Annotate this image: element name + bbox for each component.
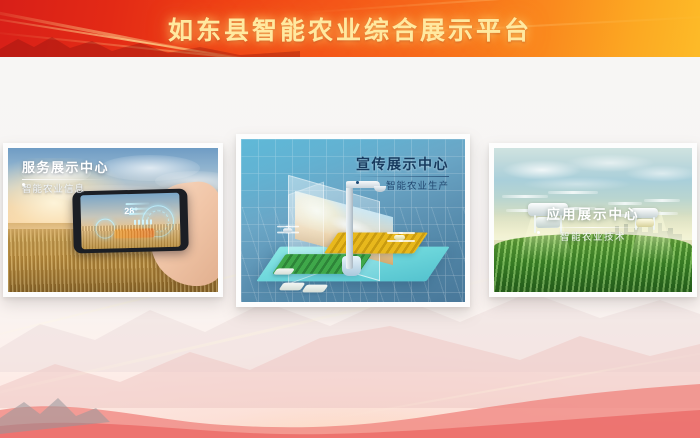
background-mountain-mid	[0, 298, 700, 408]
smartphone: 28°	[72, 188, 189, 253]
card-application-title: 应用展示中心	[539, 208, 647, 222]
hud-bar	[132, 207, 150, 209]
card-service-subtitle: 智能农业信息	[22, 185, 109, 195]
hud-bar	[126, 202, 150, 205]
card-application-image: 应用展示中心 智能农业技术	[494, 148, 692, 292]
background-mountain-near	[0, 358, 700, 438]
crop-rows-yellow	[323, 232, 427, 253]
phone-screen: 28°	[80, 192, 180, 249]
page-title: 如东县智能农业综合展示平台	[0, 0, 700, 57]
card-publicity-image: 宣传展示中心 智能农业生产	[241, 139, 465, 302]
page-background: 如东县智能农业综合展示平台	[0, 0, 700, 438]
hud-data-strip	[114, 228, 154, 238]
caption-divider	[22, 179, 106, 180]
caption-dot-icon	[356, 181, 359, 184]
card-publicity-subtitle: 智能农业生产	[353, 182, 449, 192]
caption-divider	[353, 176, 449, 177]
hud-ring-left-icon	[95, 218, 116, 239]
card-application-subtitle: 智能农业技术	[539, 233, 647, 243]
hud-ticks	[134, 219, 152, 224]
card-application-caption: 应用展示中心 智能农业技术	[539, 208, 647, 242]
hud-bar	[129, 212, 150, 215]
card-service-caption: 服务展示中心 智能农业信息	[22, 161, 109, 195]
caption-dot-icon	[537, 231, 540, 234]
green-crop-field	[494, 234, 692, 292]
card-service-title: 服务展示中心	[22, 161, 109, 174]
card-service-display-center[interactable]: 28° 服务展示中心 智能农业信息	[3, 143, 223, 297]
caption-dot-icon	[22, 183, 25, 186]
header-banner: 如东县智能农业综合展示平台	[0, 0, 700, 57]
card-publicity-caption: 宣传展示中心 智能农业生产	[353, 157, 449, 192]
card-publicity-display-center[interactable]: 宣传展示中心 智能农业生产	[236, 134, 470, 307]
card-service-image: 28° 服务展示中心 智能农业信息	[8, 148, 218, 292]
card-application-display-center[interactable]: 应用展示中心 智能农业技术	[489, 143, 697, 297]
sensor-pole	[346, 181, 353, 269]
caption-divider	[539, 227, 647, 228]
card-publicity-title: 宣传展示中心	[353, 157, 449, 171]
